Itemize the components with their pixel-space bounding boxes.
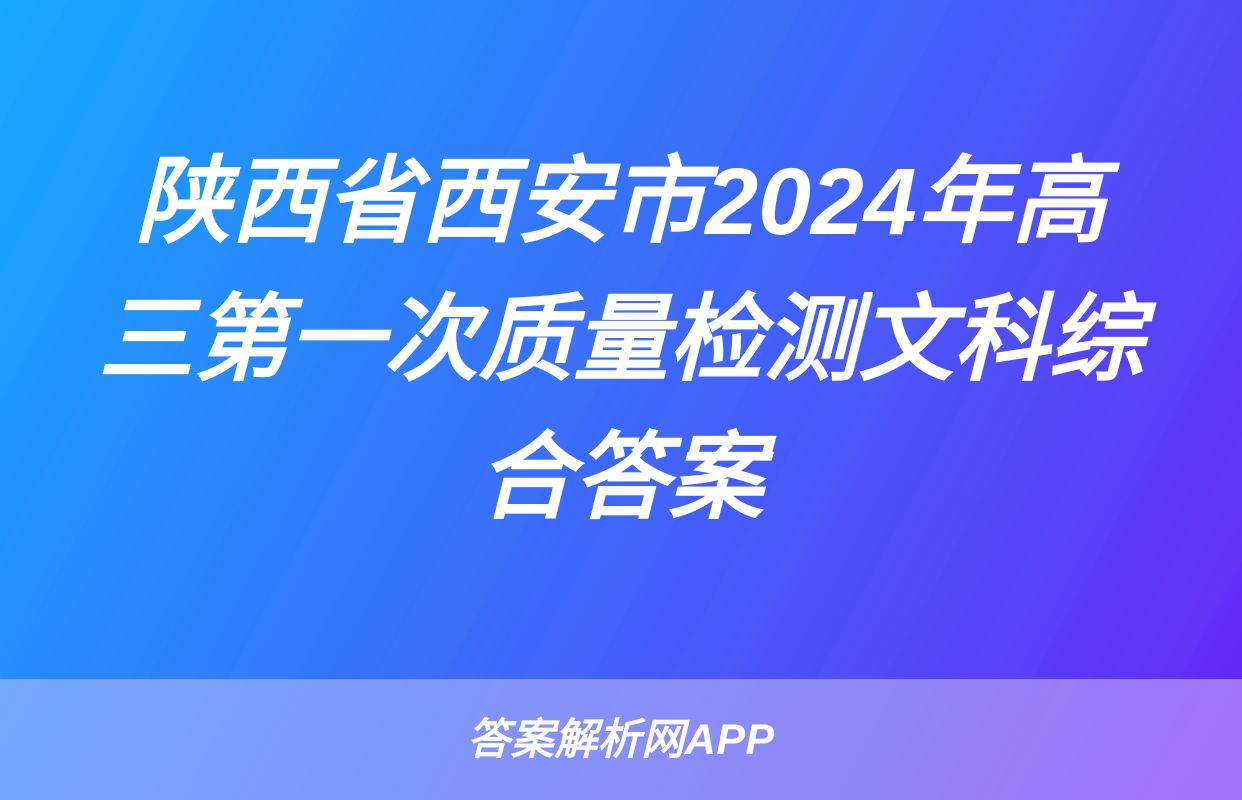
- page-title-line-1: 陕西省西安市2024年高: [41, 133, 1201, 271]
- page-title: 陕西省西安市2024年高 三第一次质量检测文科综 合答案: [0, 0, 1242, 679]
- footer-brand-label: 答案解析网APP: [467, 719, 774, 762]
- cover-card-page: 陕西省西安市2024年高 三第一次质量检测文科综 合答案 答案解析网APP: [0, 0, 1242, 800]
- footer-brand-band: 答案解析网APP: [0, 679, 1242, 800]
- page-title-line-2: 三第一次质量检测文科综: [41, 271, 1201, 409]
- page-title-line-3: 合答案: [41, 409, 1201, 547]
